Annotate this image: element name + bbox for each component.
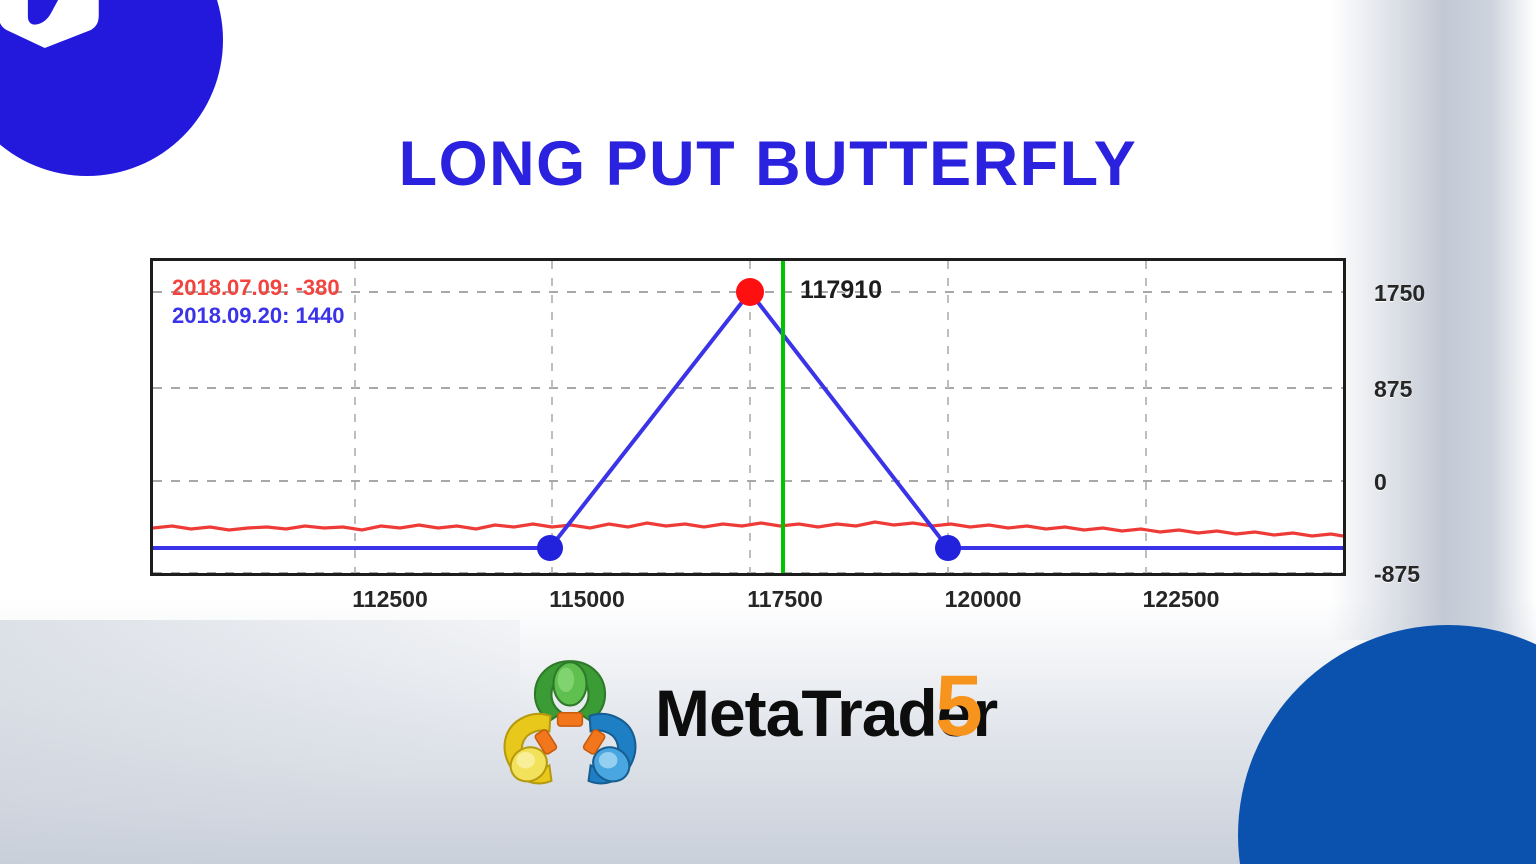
x-tick-115000: 115000 <box>549 586 624 613</box>
metatrader-version: 5 <box>935 657 983 756</box>
current-profit-line <box>153 522 1343 536</box>
legend-item-current: 2018.07.09: -380 <box>172 274 345 302</box>
y-tick-1750: 1750 <box>1374 280 1425 307</box>
slide-canvas: LONG PUT BUTTERFLY <box>0 0 1536 864</box>
hexagon-h-icon <box>0 0 110 57</box>
x-tick-112500: 112500 <box>352 586 427 613</box>
payoff-chart: 2018.07.09: -380 2018.09.20: 1440 <box>150 258 1346 576</box>
metatrader-logo: MetaTrader 5 <box>495 655 1040 790</box>
background-bottom-left-gradient <box>0 620 520 864</box>
x-tick-122500: 122500 <box>1143 586 1220 613</box>
y-tick-0: 0 <box>1374 469 1387 496</box>
chart-legend: 2018.07.09: -380 2018.09.20: 1440 <box>172 274 345 330</box>
left-wing-marker <box>537 535 563 561</box>
right-wing-marker <box>935 535 961 561</box>
current-price-label: 117910 <box>800 276 882 305</box>
expiry-payoff-line <box>153 292 1343 548</box>
legend-item-expiry: 2018.09.20: 1440 <box>172 302 345 330</box>
x-tick-117500: 117500 <box>747 586 822 613</box>
y-tick--875: -875 <box>1374 561 1420 588</box>
x-axis: 112500 115000 117500 120000 122500 <box>150 586 1350 626</box>
y-axis: 1750 875 0 -875 <box>1352 258 1462 588</box>
y-tick-875: 875 <box>1374 376 1412 403</box>
x-tick-120000: 120000 <box>945 586 1022 613</box>
metatrader-logo-icon <box>495 655 645 787</box>
page-title: LONG PUT BUTTERFLY <box>0 133 1536 196</box>
peak-marker <box>736 278 764 306</box>
